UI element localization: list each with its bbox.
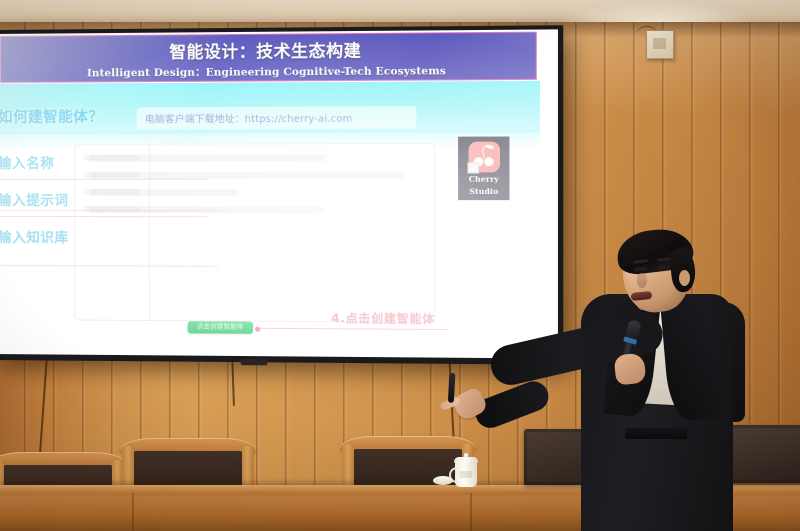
slide-title-cn: 智能设计：技术生态构建 bbox=[1, 36, 536, 64]
annotation-line-upper bbox=[0, 210, 218, 211]
table-seam bbox=[132, 493, 134, 531]
download-url-text: 电脑客户端下载地址：https://cherry-ai.com bbox=[145, 110, 353, 125]
callout-dot bbox=[255, 326, 260, 331]
table-seam bbox=[470, 493, 472, 531]
cherry-app-label-line2: Studio bbox=[469, 187, 498, 196]
teacup[interactable] bbox=[453, 453, 479, 487]
screen-ir-sensor bbox=[241, 359, 268, 365]
cherry-fruit-right-icon bbox=[484, 157, 493, 166]
projection-screen[interactable]: 智能设计：技术生态构建 Intelligent Design：Engineeri… bbox=[0, 29, 558, 358]
cherry-app-label-line1: Cherry bbox=[469, 176, 499, 185]
annotation-divider bbox=[0, 216, 208, 217]
callout-leader-line bbox=[257, 328, 448, 330]
presenter bbox=[505, 232, 755, 531]
create-agent-button-label: 点击创建智能体 bbox=[188, 321, 253, 334]
slide-form-label-list: 输入名称 输入提示词 输入知识库 bbox=[0, 152, 208, 247]
presenter-belt bbox=[625, 428, 687, 439]
presenter-nose bbox=[637, 273, 647, 288]
electrical-box-icon bbox=[646, 30, 674, 59]
app-badge-icon bbox=[467, 162, 479, 173]
teacup-decoration bbox=[460, 471, 472, 478]
presenter-ear bbox=[679, 270, 690, 286]
create-agent-button[interactable]: 点击创建智能体 bbox=[188, 321, 253, 334]
presenter-eye-right bbox=[658, 265, 670, 270]
form-label-prompt: 输入提示词 bbox=[0, 189, 208, 209]
lecture-scene: 智能设计：技术生态构建 Intelligent Design：Engineeri… bbox=[0, 0, 800, 531]
cherry-icon bbox=[468, 142, 499, 173]
download-url-bar: 电脑客户端下载地址：https://cherry-ai.com bbox=[137, 106, 416, 129]
slide-title-en: Intelligent Design：Engineering Cognitive… bbox=[1, 61, 536, 80]
cherry-studio-app-tile[interactable]: Cherry Studio bbox=[458, 137, 509, 201]
teacup-lid-knob bbox=[464, 453, 468, 458]
form-label-knowledge-base: 输入知识库 bbox=[0, 226, 208, 247]
slide-callout-text: 4.点击创建智能体 bbox=[331, 310, 435, 327]
slide-section-heading: 如何建智能体？ bbox=[0, 105, 117, 132]
presentation-slide: 智能设计：技术生态构建 Intelligent Design：Engineeri… bbox=[0, 29, 558, 358]
slide-title-band: 智能设计：技术生态构建 Intelligent Design：Engineeri… bbox=[0, 32, 537, 83]
ceiling-light-glow bbox=[560, 0, 760, 22]
projection-screen-frame: 智能设计：技术生态构建 Intelligent Design：Engineeri… bbox=[0, 25, 563, 365]
form-label-name: 输入名称 bbox=[0, 152, 208, 172]
annotation-divider bbox=[0, 179, 208, 180]
